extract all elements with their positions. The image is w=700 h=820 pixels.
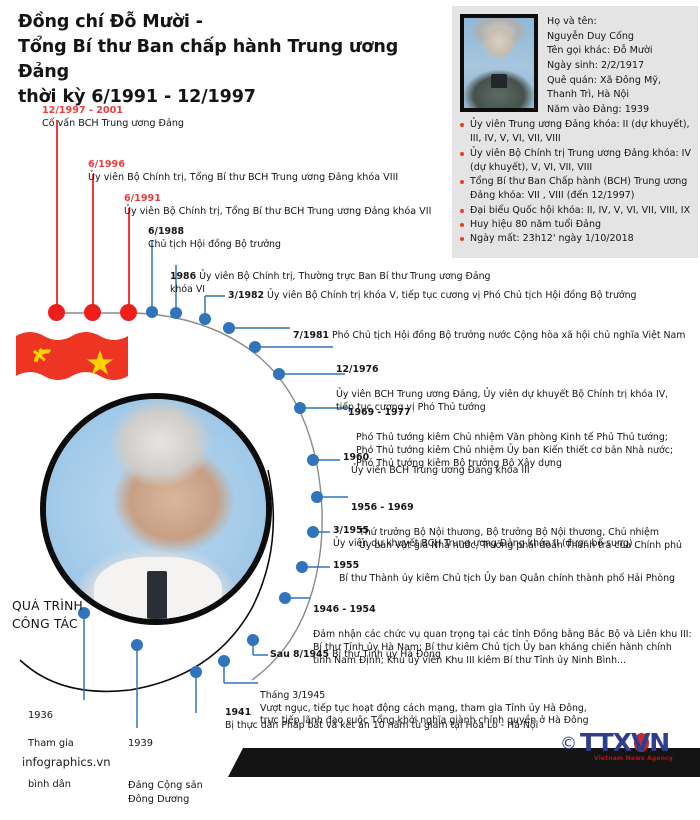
profile-bio-text: Họ và tên: Nguyễn Duy Cống Tên gọi khác:…	[547, 15, 693, 118]
portrait-tie	[147, 571, 167, 619]
timeline-entry-1996: 6/1996 Ủy viên Bộ Chính trị, Tổng Bí thư…	[88, 158, 428, 184]
timeline-year: 1936	[28, 709, 108, 723]
timeline-dot-1945b[interactable]	[279, 592, 291, 604]
timeline-entry-1997: 12/1997 - 2001 Cố vấn BCH Trung ương Đản…	[42, 104, 342, 130]
timeline-dot-red-2[interactable]	[84, 304, 101, 321]
flag-red-field	[16, 332, 128, 380]
timeline-entry-1988: 6/1988 Chủ tịch Hội đồng Bộ trưởng	[148, 226, 448, 252]
list-item: Ủy viên Trung ương Đảng khóa: II (dự khu…	[460, 118, 692, 147]
timeline-text: Ủy viên Bộ Chính trị, Tổng Bí thư BCH Tr…	[88, 171, 428, 184]
timeline-dot-red-3[interactable]	[120, 304, 137, 321]
timeline-text: Bí thư Tỉnh ủy Hà Đông	[332, 649, 441, 660]
timeline-dot-1982[interactable]	[199, 313, 211, 325]
timeline-year: 1969 - 1977	[348, 407, 696, 420]
timeline-text: Chủ tịch Hội đồng Bộ trưởng	[148, 239, 448, 252]
list-item: Tổng Bí thư Ban Chấp hành (BCH) Trung ươ…	[460, 175, 692, 204]
timeline-year: 1955	[333, 560, 683, 573]
agency-name: TTXVN	[580, 728, 669, 757]
timeline-dot-1956[interactable]	[307, 454, 319, 466]
timeline-dot-1945[interactable]	[247, 634, 259, 646]
timeline-entry-1946: 1946 - 1954 Đảm nhận các chức vụ quan tr…	[313, 591, 695, 680]
timeline-dot-1960[interactable]	[294, 402, 306, 414]
timeline-year: 12/1976	[336, 364, 686, 377]
timeline-dot-1936b[interactable]	[131, 639, 143, 651]
timeline-entry-1955: 1955 Bí thư Thành ủy kiêm Chủ tịch Ủy ba…	[333, 560, 683, 586]
timeline-year: 1960	[343, 452, 683, 465]
timeline-stem-red-2	[92, 174, 94, 316]
timeline-dot-red-1[interactable]	[48, 304, 65, 321]
timeline-text: Cố vấn BCH Trung ương Đảng	[42, 117, 342, 130]
timeline-dot-1946[interactable]	[296, 561, 308, 573]
timeline-dot-1955[interactable]	[307, 526, 319, 538]
timeline-year: 6/1991	[124, 192, 464, 205]
profile-photo-image	[464, 18, 534, 108]
timeline-dot-1969[interactable]	[273, 368, 285, 380]
list-item: Huy hiệu 80 năm tuổi Đảng	[460, 218, 692, 232]
section-label: QUÁ TRÌNH CÔNG TÁC	[12, 598, 83, 634]
timeline-entry-1960: 1960 Ủy viên BCH Trung ương Đảng khóa II…	[343, 452, 683, 478]
timeline-year: Tháng 3/1945	[260, 690, 325, 701]
timeline-year: 1986	[170, 271, 196, 282]
timeline-entry-1982: 3/1982 Ủy viên Bộ Chính trị khóa V, tiếp…	[228, 290, 648, 303]
infographic-canvas: Đồng chí Đỗ Mười - Tổng Bí thư Ban chấp …	[0, 0, 700, 777]
timeline-entry-1945b: Sau 8/1945 Bí thư Tỉnh ủy Hà Đông	[270, 649, 600, 662]
profile-photo	[460, 14, 538, 112]
timeline-dot-1986[interactable]	[170, 307, 182, 319]
timeline-entry-1981: 7/1981 Phó Chủ tịch Hội đồng Bộ trưởng n…	[293, 330, 693, 343]
timeline-year: 1946 - 1954	[313, 604, 695, 617]
timeline-text: Ủy viên dự khuyết BCH Trung ương Đảng kh…	[333, 538, 683, 551]
timeline-dot-1955b[interactable]	[311, 491, 323, 503]
list-item: Đại biểu Quốc hội khóa: II, IV, V, VI, V…	[460, 204, 692, 218]
timeline-text: Ủy viên Bộ Chính trị, Tổng Bí thư BCH Tr…	[124, 205, 464, 218]
profile-info-panel: Họ và tên: Nguyễn Duy Cống Tên gọi khác:…	[452, 6, 698, 258]
agency-logo: © TTXVN Vietnam News Agency	[560, 728, 690, 764]
flags-graphic	[14, 330, 136, 392]
timeline-text: Ủy viên Bộ Chính trị khóa V, tiếp tục cư…	[267, 290, 636, 301]
timeline-text: Ủy viên BCH Trung ương Đảng khóa III	[343, 465, 683, 478]
timeline-text: Phó Chủ tịch Hội đồng Bộ trưởng nước Cộn…	[332, 330, 685, 341]
timeline-year: 1956 - 1969	[351, 502, 696, 515]
timeline-year: 6/1996	[88, 158, 428, 171]
timeline-entry-1955b: 3/1955 Ủy viên dự khuyết BCH Trung ương …	[333, 525, 683, 551]
timeline-year: 3/1955	[333, 525, 683, 538]
timeline-year: 1941	[225, 707, 645, 720]
timeline-dot-1941[interactable]	[218, 655, 230, 667]
agency-subtitle: Vietnam News Agency	[594, 755, 673, 762]
list-item: Ủy viên Bộ Chính trị Trung ương Đảng khó…	[460, 147, 692, 176]
timeline-stem-red-1	[56, 120, 58, 316]
timeline-year: 3/1982	[228, 290, 264, 301]
timeline-year: 7/1981	[293, 330, 329, 341]
portrait-circle	[40, 393, 272, 625]
footer-site-name[interactable]: infographics.vn	[22, 755, 111, 769]
timeline-year: Sau 8/1945	[270, 649, 329, 660]
list-item: Ngày mất: 23h12' ngày 1/10/2018	[460, 232, 692, 246]
copyright-icon: ©	[560, 734, 577, 754]
timeline-year: 12/1997 - 2001	[42, 104, 342, 117]
page-title: Đồng chí Đỗ Mười - Tổng Bí thư Ban chấp …	[18, 10, 448, 109]
timeline-dot-1976[interactable]	[249, 341, 261, 353]
timeline-entry-1991: 6/1991 Ủy viên Bộ Chính trị, Tổng Bí thư…	[124, 192, 464, 218]
timeline-dot-1939[interactable]	[190, 666, 202, 678]
timeline-year: 6/1988	[148, 226, 448, 239]
timeline-dot-1981[interactable]	[223, 322, 235, 334]
profile-bullet-list: Ủy viên Trung ương Đảng khóa: II (dự khu…	[460, 118, 692, 246]
timeline-stem-red-3	[128, 208, 130, 316]
timeline-dot-1988[interactable]	[146, 306, 158, 318]
timeline-text: Bí thư Thành ủy kiêm Chủ tịch Ủy ban Quâ…	[333, 573, 683, 586]
